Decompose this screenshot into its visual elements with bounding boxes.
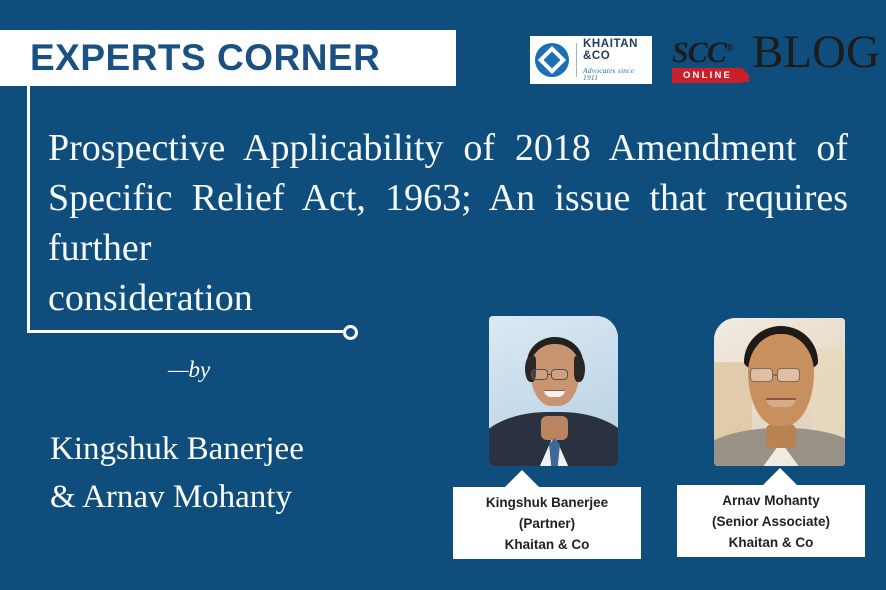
caption-kingshuk-banerjee: Kingshuk Banerjee (Partner) Khaitan & Co bbox=[453, 487, 641, 559]
headline-last-line: consideration bbox=[48, 273, 848, 323]
frame-vertical-line bbox=[27, 57, 30, 332]
khaitan-logo-line2: &CO bbox=[583, 51, 648, 63]
experts-corner-label: EXPERTS CORNER bbox=[30, 37, 380, 79]
experts-corner-banner-graphic: EXPERTS CORNER KHAITAN &CO Advocates sin… bbox=[0, 0, 886, 590]
caption-tail-icon bbox=[763, 468, 797, 485]
blog-wordmark: BLOG bbox=[752, 31, 880, 73]
registered-mark-icon: ® bbox=[726, 42, 733, 54]
scc-wordmark: SCC® bbox=[672, 34, 742, 67]
khaitan-logo-tagline: Advocates since 1911 bbox=[583, 67, 648, 82]
headline-main: Prospective Applicability of 2018 Amendm… bbox=[48, 127, 848, 269]
caption-tail-icon bbox=[505, 470, 539, 487]
frame-horizontal-line bbox=[27, 330, 345, 333]
caption-arnav-mohanty: Arnav Mohanty (Senior Associate) Khaitan… bbox=[677, 485, 865, 557]
portrait-kingshuk-banerjee bbox=[489, 316, 618, 466]
khaitan-diamond-icon bbox=[534, 42, 570, 78]
scc-online-badge: ONLINE bbox=[672, 68, 742, 83]
scc-online-blog-logo: SCC® ONLINE BLOG bbox=[672, 34, 880, 86]
logo-divider bbox=[576, 43, 577, 77]
frame-end-circle-icon bbox=[343, 325, 358, 340]
khaitan-and-co-logo: KHAITAN &CO Advocates since 1911 bbox=[530, 36, 652, 84]
byline-label: —by bbox=[168, 357, 210, 383]
khaitan-logo-line1: KHAITAN bbox=[583, 39, 648, 51]
caption-text: Kingshuk Banerjee (Partner) Khaitan & Co bbox=[486, 492, 608, 555]
page-title: Prospective Applicability of 2018 Amendm… bbox=[48, 123, 848, 323]
author-names: Kingshuk Banerjee & Arnav Mohanty bbox=[50, 425, 304, 521]
portrait-arnav-mohanty bbox=[714, 318, 845, 466]
scc-online-mark: SCC® ONLINE bbox=[672, 34, 742, 83]
experts-corner-banner: EXPERTS CORNER bbox=[0, 30, 456, 86]
khaitan-logo-text: KHAITAN &CO Advocates since 1911 bbox=[583, 39, 648, 82]
caption-text: Arnav Mohanty (Senior Associate) Khaitan… bbox=[712, 490, 830, 553]
